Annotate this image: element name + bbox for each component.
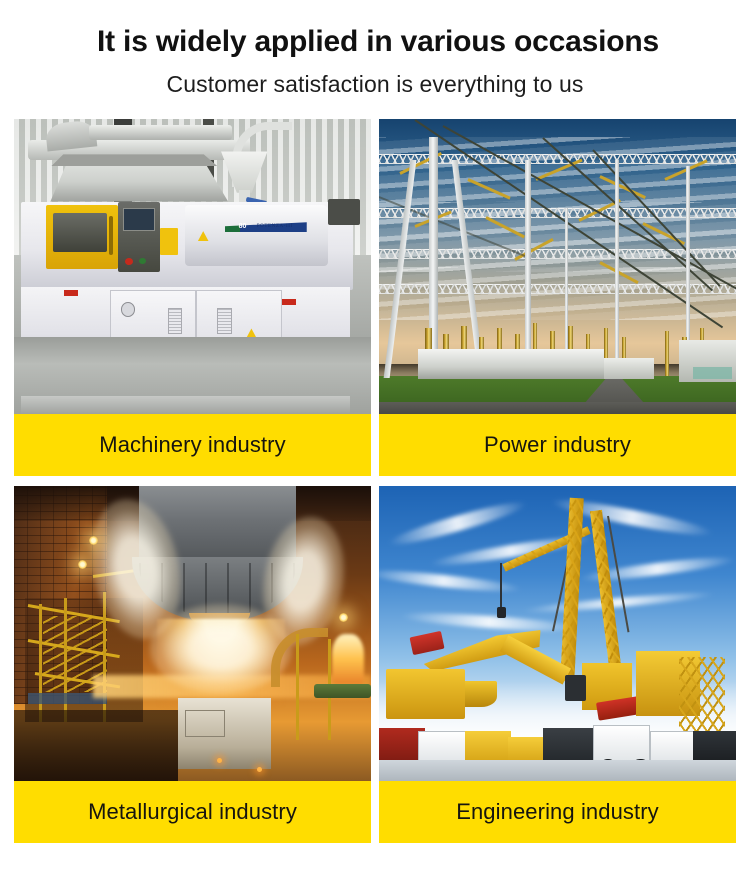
application-card-machinery[interactable]: 80 POTENZA-III Machinery i [14, 119, 371, 476]
page-header: It is widely applied in various occasion… [0, 0, 750, 98]
ground-plane [379, 760, 736, 781]
injection-moulding-machine-photo: 80 POTENZA-III [14, 119, 371, 414]
switchgear-bay [418, 349, 604, 379]
cirrus-cloud [522, 590, 715, 616]
green-pipe [314, 684, 371, 699]
wheel-loader [386, 669, 465, 719]
pylon-mast [615, 160, 620, 361]
application-card-power[interactable]: Power industry [379, 119, 736, 476]
construction-machinery-fleet-photo [379, 486, 736, 781]
page-title: It is widely applied in various occasion… [0, 24, 750, 60]
work-lamp [339, 613, 348, 622]
furnace-flame [332, 634, 364, 684]
page-subtitle: Customer satisfaction is everything to u… [0, 71, 750, 98]
red-machine-top [410, 630, 445, 654]
steel-mill-ladle-furnace-photo [14, 486, 371, 781]
pressure-gauge [121, 302, 135, 317]
red-label [282, 299, 296, 305]
start-button [139, 258, 146, 264]
foreground-road [379, 402, 736, 414]
lattice-tower-right [679, 657, 725, 740]
floor-reflection [21, 396, 349, 414]
machinery-grille [185, 710, 224, 737]
injection-barrel-cover [185, 205, 328, 267]
guard-window [53, 213, 107, 251]
applications-page: It is widely applied in various occasion… [0, 0, 750, 896]
ember-spark [257, 767, 262, 772]
control-panel-screen [123, 208, 155, 232]
cabinet-vent [168, 308, 182, 335]
overhead-pipe [89, 125, 232, 140]
electrical-substation-photo [379, 119, 736, 414]
machine-hood-top [46, 154, 217, 166]
machine-size-label: 80 [232, 223, 253, 234]
warning-box [160, 228, 178, 255]
card-caption-metallurgical: Metallurgical industry [14, 781, 371, 843]
work-lamp [78, 560, 87, 569]
application-card-metallurgical[interactable]: Metallurgical industry [14, 486, 371, 843]
cabinet-vent [217, 308, 231, 335]
application-card-engineering[interactable]: Engineering industry [379, 486, 736, 843]
yellow-post [39, 604, 42, 722]
insulator-stack [665, 331, 669, 375]
lattice-boom-secondary [590, 509, 622, 674]
card-caption-power: Power industry [379, 414, 736, 476]
card-caption-machinery: Machinery industry [14, 414, 371, 476]
red-label [64, 290, 78, 296]
hoist-line [500, 563, 502, 610]
switchgear-bay-far [604, 358, 654, 379]
machine-brand-label: POTENZA-III [257, 224, 336, 233]
crane-hook [497, 607, 506, 618]
cirrus-cloud [387, 496, 528, 550]
crawler-crane-cab [565, 675, 586, 702]
lattice-boom [560, 498, 584, 681]
guard-handle [109, 216, 114, 254]
control-building-window [693, 367, 732, 379]
card-caption-engineering: Engineering industry [379, 781, 736, 843]
pylon-mast [525, 160, 530, 367]
application-grid: 80 POTENZA-III Machinery i [14, 119, 736, 843]
side-monitor [328, 199, 360, 226]
pylon-mast [686, 166, 690, 349]
yellow-post [296, 634, 299, 740]
foreground-shadow [14, 710, 178, 781]
emergency-stop-button [125, 258, 133, 265]
